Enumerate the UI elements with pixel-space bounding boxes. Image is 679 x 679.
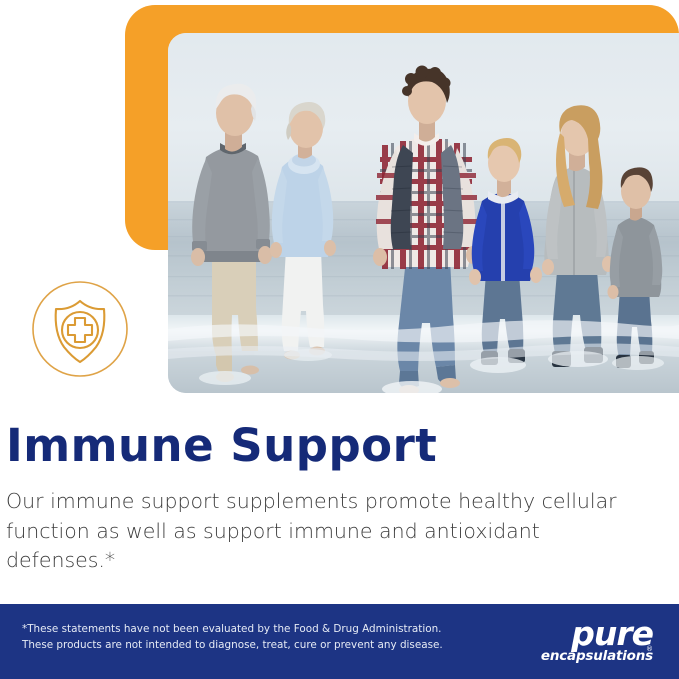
shield-medical-cross-icon [30,279,130,379]
brand-logo: pure encapsulations ® [493,618,653,666]
beach-family-illustration [168,33,679,393]
fda-disclaimer-text: *These statements have not been evaluate… [22,622,443,653]
hero-photo [168,33,679,393]
product-category-banner: Immune Support Our immune support supple… [0,0,679,679]
footer-bar: *These statements have not been evaluate… [0,604,679,679]
brand-logo-subtitle: encapsulations [493,649,653,664]
brand-logo-wordmark: pure [493,618,653,649]
page-description: Our immune support supplements promote h… [6,487,626,576]
registered-trademark-mark: ® [646,645,653,653]
page-title: Immune Support [6,418,437,474]
